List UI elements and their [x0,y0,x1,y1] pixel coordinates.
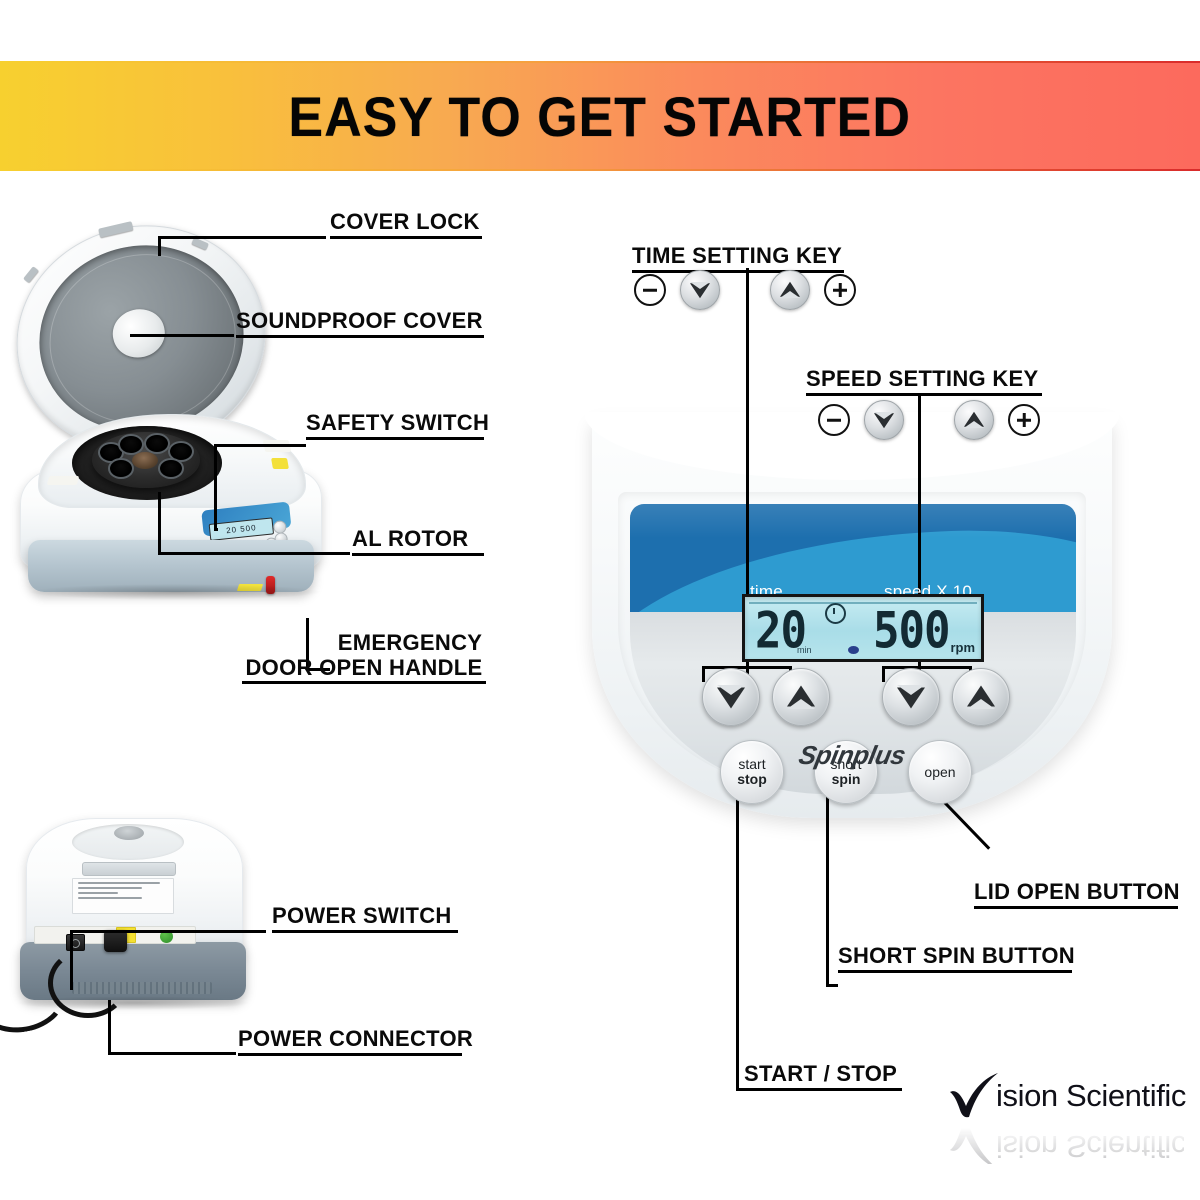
rotor-center-nut [132,452,158,469]
leader-line-safety-switch [214,444,306,447]
label-cover-lock: COVER LOCK [330,210,482,239]
minus-icon[interactable] [818,404,850,436]
label-al-rotor: AL ROTOR [352,527,484,556]
brand-logo-spinplus: Spinplus [796,740,908,771]
speed-down-button[interactable] [882,668,940,726]
label-emergency-door-open-handle: EMERGENCY DOOR OPEN HANDLE [334,631,486,684]
rear-vent-slot [82,862,176,876]
label-power-switch: POWER SWITCH [272,904,458,933]
leader-line-start-stop-v [736,784,739,1090]
leader-line-time-bracket-l [702,666,705,682]
centrifuge-body: 20 500 [20,414,320,594]
lcd-speed-value: 500 [873,605,950,657]
leader-line-al-rotor-v [158,492,161,552]
plus-icon[interactable] [824,274,856,306]
spec-text-line [78,882,160,884]
leader-line-soundproof-cover [130,334,234,337]
speed-up-key-icon[interactable] [954,400,994,440]
leader-line-al-rotor [158,552,350,555]
power-connector[interactable] [104,930,127,952]
lcd-display: 20 min 500 rpm [742,594,984,662]
speed-setting-key-cluster [818,400,1040,440]
leader-line-short-spin-v [826,790,829,986]
speed-up-button[interactable] [952,668,1010,726]
leader-line-speed-bracket-l [882,666,885,682]
leader-line-short-spin-h [826,984,838,987]
open-label: open [924,765,955,780]
label-short-spin-button: SHORT SPIN BUTTON [838,944,1075,973]
plus-icon[interactable] [1008,404,1040,436]
header-banner: EASY TO GET STARTED [0,61,1200,171]
rotor-tube-hole [158,458,184,479]
vision-scientific-logo: ision Scientific [944,1078,1184,1122]
warning-sticker-left [47,476,80,485]
centrifuge-open-image: 20 500 [8,218,338,668]
lid-open-button[interactable]: open [908,740,972,804]
leader-line-safety-switch-v [214,444,217,530]
stop-label: stop [737,772,767,787]
leader-line-time-bracket [702,666,792,669]
label-safety-switch: SAFETY SWITCH [306,411,489,440]
control-panel-image: time speed X 10 20 min 500 rpm start sto… [592,418,1112,848]
rear-spec-label [72,878,174,914]
start-label: start [738,757,765,772]
leader-line-speed-bracket [882,666,972,669]
minus-icon[interactable] [634,274,666,306]
logo-text: ision Scientific [996,1078,1186,1114]
lcd-speed-unit: rpm [950,640,975,655]
leader-line-power-connector-h [108,1052,236,1055]
page-title: EASY TO GET STARTED [289,84,911,149]
lcd-time-unit: min [797,645,812,655]
al-rotor [92,432,200,488]
label-power-connector: POWER CONNECTOR [238,1027,473,1056]
rotor-tube-hole [108,458,134,479]
infographic-page: EASY TO GET STARTED [0,0,1200,1200]
time-up-button[interactable] [772,668,830,726]
speed-down-key-icon[interactable] [864,400,904,440]
label-time-setting-key: TIME SETTING KEY [632,244,844,273]
centrifuge-rear-image [10,818,260,1048]
spec-text-line [78,897,142,899]
spin-label: spin [832,772,861,787]
logo-reflection: ision Scientific [944,1124,1184,1164]
time-setting-key-cluster [634,270,856,310]
rear-top-hub [114,826,144,840]
time-down-key-icon[interactable] [680,270,720,310]
time-up-key-icon[interactable] [770,270,810,310]
safety-switch-sticker [271,458,289,469]
drop-shadow [18,996,248,1010]
label-soundproof-cover: SOUNDPROOF COVER [236,309,484,338]
rotor-tube-hole [144,433,170,454]
logo-text-reflection: ision Scientific [996,1128,1184,1164]
label-speed-setting-key: SPEED SETTING KEY [806,367,1042,396]
label-lid-open-button: LID OPEN BUTTON [974,880,1180,909]
leader-line-power-switch-v [70,930,73,990]
leader-line-cover-lock-v [158,236,161,256]
spec-text-line [78,887,142,889]
leader-line-safety-switch-b [214,528,218,531]
time-down-button[interactable] [702,668,760,726]
lcd-indicator-dot [848,646,859,654]
leader-line-power-switch-h [70,930,266,933]
start-stop-button[interactable]: start stop [720,740,784,804]
leader-line-power-connector-v [108,1000,111,1055]
rotor-chamber [72,426,222,500]
clock-icon [825,603,846,624]
spec-text-line [78,892,118,894]
leader-line-cover-lock [160,236,326,239]
drop-shadow [30,584,320,600]
label-start-stop: START / STOP [744,1062,902,1091]
